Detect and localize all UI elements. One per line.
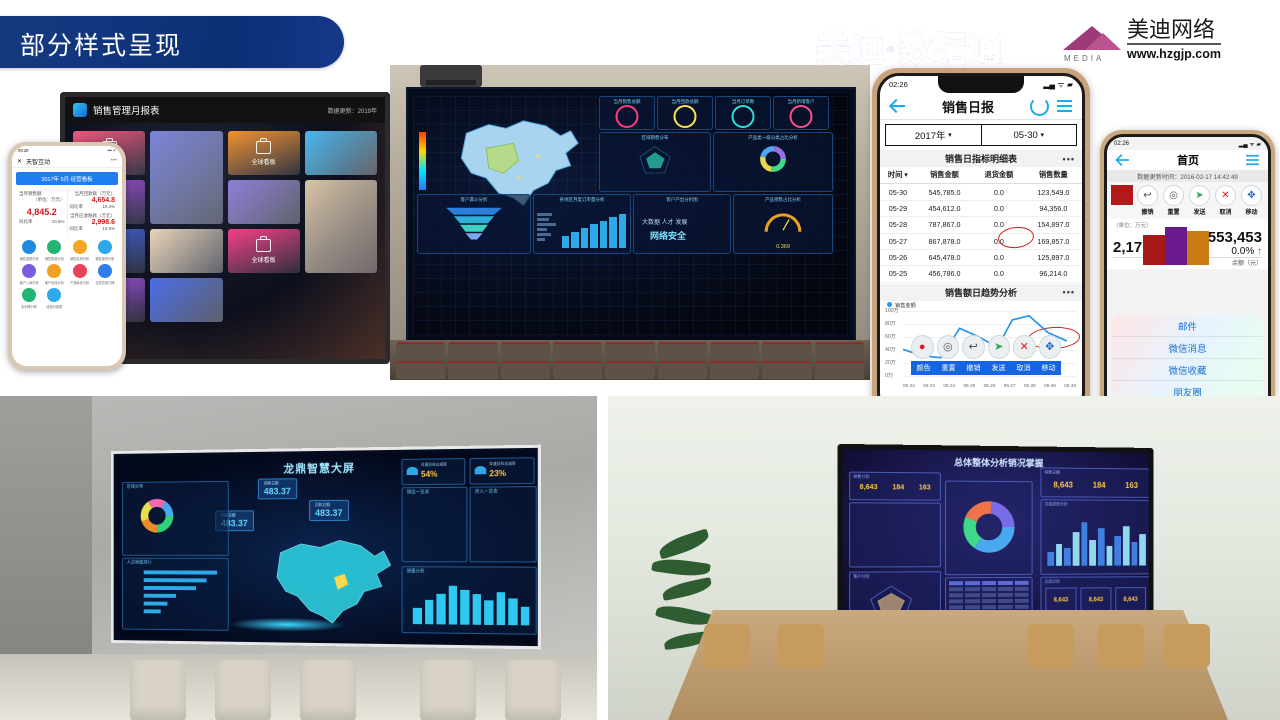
table-cell: 05-28 — [880, 217, 916, 233]
toolbar-label: 移动 — [1245, 207, 1257, 216]
toolbar-undo-icon[interactable]: ↩撤销 — [1135, 185, 1160, 216]
bar — [520, 607, 529, 626]
table-cell: 0.0 — [973, 200, 1025, 216]
share-option[interactable]: 微信收藏 — [1112, 359, 1263, 381]
toolbar-label[interactable]: 移动 — [1036, 361, 1061, 375]
y-tick: 60万 — [885, 333, 896, 340]
kpi-chip: 回款总额483.37 — [309, 500, 348, 521]
dashboard-tile[interactable] — [150, 278, 222, 322]
toolbar-move-icon[interactable]: ✥移动 — [1239, 185, 1264, 216]
toolbar-label[interactable]: 取消 — [1011, 361, 1036, 375]
seat — [501, 361, 550, 379]
reset-icon: ◎ — [1163, 185, 1184, 206]
table-cell: 05-30 — [880, 184, 916, 200]
table-row — [949, 599, 1029, 604]
feature-report-icon[interactable]: 经营月报表 — [43, 288, 65, 309]
list-card-1: 销出一览表 — [402, 487, 468, 563]
dash-card-text: 客户产出分析图大数据 人才 发展网络安全 — [633, 194, 731, 254]
kpi-main-compare-label: 同比率 — [19, 219, 33, 225]
x-tick: 05-25 — [963, 383, 975, 388]
seat — [553, 342, 602, 360]
back-arrow-icon[interactable] — [890, 98, 906, 114]
bar-card: 销量分析 — [402, 566, 537, 635]
card-title: 客户漏斗分析 — [418, 197, 530, 203]
back-arrow-icon[interactable] — [1116, 153, 1130, 167]
kpi-card-left: 销售分析 8,643184163 — [849, 472, 941, 501]
kpi-value: 8,643 — [1053, 480, 1073, 489]
sales-amount-icon — [22, 240, 36, 254]
map-color-legend — [419, 132, 426, 190]
feature-label: 销售毛利分析 — [70, 256, 89, 261]
tv-display: 总体整体分析销况掌握 销售分析 8,643184163 销售总额 8,64318… — [838, 444, 1154, 638]
cancel-icon: ✕ — [1215, 185, 1236, 206]
table-row: 05-25456,786.00.096,214.0 — [880, 266, 1082, 282]
seat — [396, 342, 445, 360]
dashboard-tile[interactable] — [305, 180, 377, 273]
phone-notch — [938, 76, 1024, 93]
toolbar-label: 重置 — [1167, 207, 1179, 216]
bar — [508, 598, 517, 625]
card-title: 区域销售分布 — [600, 135, 710, 141]
table-cell: 96,214.0 — [1025, 266, 1082, 282]
table-cell: 456,786.0 — [916, 266, 973, 282]
seat — [396, 361, 445, 379]
kpi-value: 163 — [1125, 481, 1138, 490]
table-cell — [982, 605, 996, 609]
table-cell — [998, 587, 1012, 591]
bar — [144, 578, 206, 582]
return-icon — [73, 240, 87, 254]
kpi-main-compare-value: 10.5% — [52, 219, 65, 225]
share-option[interactable]: 微信消息 — [1112, 337, 1263, 359]
column-header: 销售金额 — [916, 167, 973, 184]
dash-card-gauge: 产品销售占比分析0.369 — [733, 194, 833, 254]
kpi-row: 当月销售额 （单位：万元） 4,845.2 同比率 10.5% 当月回款额（万元… — [12, 189, 122, 234]
dashboard-tile[interactable] — [228, 180, 300, 224]
toolbar-label[interactable]: 颜色 — [911, 361, 936, 375]
donut-card: 区域分布 — [122, 481, 229, 556]
feature-sales-volume-icon[interactable]: 销售数量分析 — [43, 240, 65, 261]
menu-icon[interactable] — [1246, 155, 1259, 165]
send-icon[interactable]: ➤ — [988, 335, 1011, 359]
x-tick: 05-24 — [943, 383, 955, 388]
table-row — [949, 593, 1029, 598]
kpi-c-value: 2,998.6 — [70, 219, 116, 226]
table-cell — [966, 605, 980, 609]
feature-payment-icon[interactable]: 销售退货分析 — [94, 240, 116, 261]
table-row: 05-26645,478.00.0125,897.0 — [880, 249, 1082, 265]
kpi-secondary: 当月回款额（万元） 4,654.8 同比率 10.4% 当月应收账款（万元） 2… — [67, 189, 118, 234]
move-icon: ✥ — [1241, 185, 1262, 206]
auditorium-big-screen: 当月销售总额当月回款总额当月订单数当月新增客户区域销售分布产品类一级分类占比分析… — [406, 87, 856, 342]
feature-label: 毛利率分析 — [21, 304, 37, 309]
table-cell: 05-27 — [880, 233, 916, 249]
phone-nav-bar: 首页 — [1107, 150, 1268, 170]
company-logo: MEDIA 美迪网络 www.hzgjp.com — [1063, 18, 1221, 62]
seat — [658, 342, 707, 360]
phone-mockup-home: 02:26 ▂▄ ᯤ ▰ 首页 数据更新时间：2016-02-17 14:42:… — [1100, 130, 1275, 440]
bar — [144, 594, 176, 598]
table-cell: 154,897.0 — [1025, 217, 1082, 233]
table-cell: 0.0 — [973, 184, 1025, 200]
x-tick: 05-29 — [1044, 383, 1056, 388]
table-row — [949, 605, 1029, 610]
y-tick: 100万 — [885, 307, 899, 314]
move-icon[interactable]: ✥ — [1039, 335, 1062, 359]
feature-stock-icon[interactable]: 产品库存分析 — [69, 264, 91, 285]
table-more-icon[interactable]: ••• — [1063, 154, 1075, 164]
y-tick: 20万 — [885, 359, 896, 366]
cancel-icon[interactable]: ✕ — [1013, 335, 1036, 359]
phone-status-bar: 02:26 ▂▄ ᯤ ▰ — [1107, 137, 1268, 150]
status-time: 02:26 — [889, 80, 908, 89]
seat — [448, 361, 497, 379]
gauge-value: 8,643 — [1116, 597, 1145, 603]
gauge-value: 23% — [489, 469, 506, 478]
cloud-icon — [407, 467, 418, 475]
bar — [413, 608, 422, 624]
undo-icon: ↩ — [1137, 185, 1158, 206]
auditorium-photo: 当月销售总额当月回款总额当月订单数当月新增客户区域销售分布产品类一级分类占比分析… — [390, 65, 870, 380]
brand-title: 美迪·数据通 — [816, 22, 1003, 71]
bar — [1115, 536, 1121, 566]
kpi-c-compare-label: 同比率 — [70, 226, 84, 232]
cloud-icon — [475, 466, 486, 474]
table-cell: 123,549.0 — [1025, 184, 1082, 200]
table-cell — [982, 593, 996, 597]
annotation-toolbar: ↩撤销◎重置➤发送✕取消✥移动 — [1107, 182, 1268, 219]
kpi-block: （单位：万元） 2,553,453 0.0% ↑ 余额（元） 2,17 — [1107, 219, 1268, 269]
logo-url: www.hzgjp.com — [1127, 46, 1221, 62]
color-swatch-icon[interactable]: ● — [911, 335, 934, 359]
dash-card-ring: 当月订单数 — [715, 96, 771, 130]
dash-card-ring: 当月回款总额 — [657, 96, 713, 130]
table-row: 05-28787,867.00.0154,897.0 — [880, 217, 1082, 233]
status-icons: ••• ⚡ — [107, 148, 116, 153]
table-cell: 05-29 — [880, 200, 916, 216]
table-row — [949, 581, 1029, 585]
chart-section-title: 销售额日趋势分析 ••• — [880, 284, 1082, 301]
table-cell — [966, 581, 980, 585]
kpi-value: 184 — [1093, 481, 1106, 490]
toolbar-label[interactable]: 撤销 — [961, 361, 986, 375]
briefcase-icon — [256, 239, 271, 252]
data-update-time: 数据更新时间：2016-02-17 14:42:49 — [1107, 170, 1268, 182]
seat — [762, 361, 811, 379]
table-cell: 0.0 — [973, 249, 1025, 265]
refresh-icon[interactable] — [1030, 97, 1049, 116]
table-cell — [1014, 587, 1028, 591]
home-title: 首页 — [1177, 152, 1199, 168]
dashboard-tile[interactable] — [150, 229, 222, 273]
card-title: 产品销售占比分析 — [734, 197, 832, 203]
dashboard-tile[interactable] — [150, 131, 222, 224]
feature-return-icon[interactable]: 销售毛利分析 — [69, 240, 91, 261]
profit-icon — [22, 288, 36, 302]
mountain-logo-icon: MEDIA — [1063, 18, 1121, 60]
status-time: 09:28 — [18, 148, 28, 153]
status-icons: ▂▄ ᯤ ▰ — [1239, 140, 1261, 148]
seat — [658, 361, 707, 379]
table-row — [949, 587, 1029, 592]
customer-icon — [22, 264, 36, 278]
seat — [815, 342, 864, 360]
bar — [436, 594, 445, 625]
gauge-caption: 月度目标达成率 — [421, 462, 447, 467]
sales-volume-icon — [47, 240, 61, 254]
status-time: 02:26 — [1114, 141, 1129, 147]
dashboard-tile[interactable]: 全球看板 — [228, 131, 300, 175]
card-title: 各地区月度订单量分析 — [534, 197, 630, 203]
briefcase-icon — [256, 141, 271, 154]
seat — [605, 361, 654, 379]
feature-customer-icon[interactable]: 客户入库分析 — [18, 264, 40, 285]
seat — [605, 342, 654, 360]
phone-mockup-report: 02:26 ▂▄ ᯤ ▰ 销售日报 2017年 ▾ 05-30 ▾ 销售日指标明… — [872, 68, 1090, 420]
feature-label: 经营月报表 — [46, 304, 62, 309]
x-tick: 05-26 — [984, 383, 996, 388]
toolbar-label[interactable]: 发送 — [986, 361, 1011, 375]
feature-label: 客户入库分析 — [20, 280, 39, 285]
table-cell: 05-26 — [880, 249, 916, 265]
send-icon: ➤ — [1189, 185, 1210, 206]
kpi-value: 184 — [892, 484, 904, 491]
kpi-main-unit: （单位：万元） — [19, 197, 65, 203]
tablet-app-title: 销售管理月报表 — [93, 103, 160, 117]
bar — [1140, 534, 1146, 565]
up-arrow-icon: ↑ — [1257, 246, 1262, 257]
gauge-chip: 年度目标达成率23% — [470, 457, 535, 484]
reset-icon[interactable]: ◎ — [937, 335, 960, 359]
projector — [420, 65, 482, 87]
dash-card-bar: 各地区月度订单量分析 — [533, 194, 631, 254]
chart-app-icon — [73, 103, 87, 117]
gauge-value: 54% — [421, 470, 437, 479]
x-tick: 05-22 — [903, 383, 915, 388]
bar — [496, 592, 505, 625]
bar — [1056, 544, 1063, 566]
y-tick: 80万 — [885, 320, 896, 327]
donut-card — [945, 481, 1033, 576]
annotation-toolbar: ●◎↩➤✕✥ 颜色重置撤销发送取消移动 — [911, 335, 1061, 375]
table-cell — [982, 599, 996, 603]
dashboard-tile[interactable] — [305, 131, 377, 175]
table-cell — [1014, 605, 1028, 609]
report-title: 销售日报 — [942, 97, 994, 116]
bar — [1081, 522, 1087, 566]
order-icon — [47, 264, 61, 278]
date-selectors: 2017年 ▾ 05-30 ▾ — [885, 124, 1077, 146]
table-cell: 05-25 — [880, 266, 916, 282]
column-header: 销售数量 — [1025, 167, 1082, 184]
day-select[interactable]: 05-30 ▾ — [982, 125, 1077, 145]
kpi-caption: 销售总额 — [264, 481, 291, 486]
table-cell — [949, 605, 963, 609]
toolbar-label: 取消 — [1219, 207, 1231, 216]
bar — [425, 600, 434, 624]
feature-label: 销售退货分析 — [95, 256, 114, 261]
table-cell: 545,785.0 — [916, 184, 973, 200]
gauge-caption: 年度目标达成率 — [489, 462, 515, 467]
logo-media-label: MEDIA — [1064, 54, 1104, 63]
projector-room-photo: 龙鼎智慧大屏 销售总额483.37回款总额483.37利润总额483.37 月度… — [0, 396, 597, 720]
table-row: 05-29454,612.00.094,356.0 — [880, 200, 1082, 216]
tile-label: 全球看板 — [252, 157, 276, 166]
x-tick: 05-27 — [1004, 383, 1016, 388]
close-icon[interactable]: ✕ — [17, 158, 22, 165]
gauge-value: 8,643 — [1081, 597, 1110, 603]
feature-label: 客户出库分析 — [45, 280, 64, 285]
conference-table — [668, 610, 1228, 720]
dash-card-funnel: 客户漏斗分析 — [417, 194, 531, 254]
kpi-c-compare-value: 13.6% — [102, 226, 115, 232]
gauge-value: 0.369 — [734, 244, 832, 250]
tablet-meta: 数据更新：2019年 — [328, 106, 377, 115]
phone-nav-bar: 销售日报 — [880, 93, 1082, 120]
column-header: 退货金额 — [973, 167, 1025, 184]
color-swatch-icon[interactable] — [1111, 185, 1133, 205]
conference-room-photo: 总体整体分析销况掌握 销售分析 8,643184163 销售总额 8,64318… — [608, 396, 1280, 720]
table-cell — [998, 605, 1012, 609]
kpi-card-right: 销售总额 8,643184163 — [1040, 467, 1148, 497]
bar — [472, 594, 481, 625]
staff-icon — [98, 264, 112, 278]
seat — [710, 342, 759, 360]
table-cell: 94,356.0 — [1025, 200, 1082, 216]
kpi-b-value: 4,654.8 — [70, 197, 116, 204]
x-tick: 05-23 — [923, 383, 935, 388]
feature-label: 销售数量分析 — [45, 256, 64, 261]
table-cell — [949, 593, 963, 597]
dash-card-donut: 产品类一级分类占比分析 — [713, 132, 833, 192]
payment-icon — [98, 240, 112, 254]
table-cell — [998, 581, 1012, 585]
phone-nav-bar: ✕ 天智互动 ••• — [12, 155, 122, 168]
chart-more-icon[interactable]: ••• — [1063, 287, 1075, 297]
dashboard-tile[interactable]: 全球看板 — [228, 229, 300, 273]
more-icon[interactable]: ••• — [111, 158, 117, 164]
feature-staff-icon[interactable]: 业务员排行榜 — [94, 264, 116, 285]
logo-company-name: 美迪网络 — [1127, 18, 1221, 45]
bar — [460, 590, 469, 625]
status-icons: ▂▄ ᯤ ▰ — [1043, 79, 1073, 90]
kpi-caption: 回款总额 — [315, 503, 342, 508]
bar — [1047, 552, 1054, 566]
kpi-bars — [1143, 227, 1209, 265]
bar — [1064, 548, 1070, 566]
report-icon — [47, 288, 61, 302]
table-cell — [982, 587, 996, 591]
seat — [815, 361, 864, 379]
toolbar-reset-icon[interactable]: ◎重置 — [1161, 185, 1186, 216]
list-card-2: 进入一览表 — [470, 486, 537, 562]
kpi-value: 8,643 — [860, 484, 878, 491]
card-title: 产品类一级分类占比分析 — [714, 135, 832, 141]
bar — [144, 570, 218, 574]
feature-order-icon[interactable]: 客户出库分析 — [43, 264, 65, 285]
kpi-pct: 0.0% — [1231, 246, 1254, 257]
table-cell — [982, 581, 996, 585]
bar — [1090, 540, 1096, 566]
phone-notch — [47, 146, 87, 153]
auditorium-seats — [390, 340, 870, 380]
table-cell — [949, 599, 963, 603]
table-cell — [966, 587, 980, 591]
chart-x-axis: 05-2205-2305-2405-2505-2605-2705-2805-29… — [903, 383, 1076, 388]
toolbar-label: 撤销 — [1141, 207, 1153, 216]
table-cell: 867,878.0 — [916, 233, 973, 249]
barh-card: 人员销量排行 — [122, 558, 229, 631]
undo-icon[interactable]: ↩ — [962, 335, 985, 359]
feature-icon-grid: 销售金额分析销售数量分析销售毛利分析销售退货分析客户入库分析客户出库分析产品库存… — [12, 234, 122, 315]
bar — [144, 586, 197, 590]
kpi-value: 163 — [919, 484, 931, 491]
dash-card-ring: 当月新增客户 — [773, 96, 829, 130]
kpi-chip: 销售总额483.37 — [258, 478, 297, 499]
seat — [501, 342, 550, 360]
feature-label: 业务员排行榜 — [95, 280, 114, 285]
kpi-main: 当月销售额 （单位：万元） 4,845.2 同比率 10.5% — [17, 189, 67, 234]
toolbar-send-icon[interactable]: ➤发送 — [1187, 185, 1212, 216]
banner-text-1: 大数据 人才 发展 — [642, 217, 687, 226]
table-cell — [966, 593, 980, 597]
table-row: 05-30545,785.00.0123,549.0 — [880, 184, 1082, 200]
table-row: 05-27867,878.00.0169,857.0 — [880, 233, 1082, 249]
kpi-main-value: 4,845.2 — [19, 207, 65, 217]
projection-screen: 龙鼎智慧大屏 销售总额483.37回款总额483.37利润总额483.37 月度… — [111, 445, 541, 650]
y-tick: 0万 — [885, 372, 893, 379]
table-section-title: 销售日指标明细表 ••• — [880, 150, 1082, 167]
table-cell — [998, 593, 1012, 597]
slide-title-banner: 部分样式呈现 — [0, 16, 344, 68]
table-cell — [966, 599, 980, 603]
trend-chart: 销售金额 100万80万60万40万20万0万 05-2205-2305-240… — [883, 301, 1079, 396]
seat — [710, 361, 759, 379]
table-cell — [1014, 599, 1028, 603]
year-select[interactable]: 2017年 ▾ — [886, 125, 982, 145]
feature-profit-icon[interactable]: 毛利率分析 — [18, 288, 40, 309]
toolbar-label: 发送 — [1193, 207, 1205, 216]
x-tick: 05-28 — [1024, 383, 1036, 388]
bar — [1123, 526, 1129, 565]
y-tick: 40万 — [885, 346, 896, 353]
toolbar-cancel-icon[interactable]: ✕取消 — [1213, 185, 1238, 216]
period-banner[interactable]: 2017年 5月 经营看板 — [16, 172, 118, 185]
menu-icon[interactable] — [1057, 100, 1072, 112]
table-cell — [1014, 593, 1028, 597]
bar — [144, 609, 161, 613]
table-cell: 125,897.0 — [1025, 249, 1082, 265]
bar-card: 月度趋势分析 — [1040, 499, 1148, 575]
share-option[interactable]: 邮件 — [1112, 315, 1263, 337]
tile-label: 全球看板 — [252, 255, 276, 264]
bar — [448, 586, 457, 625]
phone-nav-title: 天智互动 — [26, 157, 50, 166]
bar — [1073, 532, 1079, 566]
seat — [448, 342, 497, 360]
table-cell — [998, 599, 1012, 603]
toolbar-label[interactable]: 重置 — [936, 361, 961, 375]
kpi-b-compare-value: 10.4% — [102, 204, 115, 210]
bar — [1131, 542, 1137, 566]
x-tick: 05-30 — [1064, 383, 1076, 388]
feature-label: 销售金额分析 — [20, 256, 39, 261]
feature-sales-amount-icon[interactable]: 销售金额分析 — [18, 240, 40, 261]
kpi-left-value: 2,17 — [1113, 239, 1142, 256]
slide-title-text: 部分样式呈现 — [20, 26, 182, 62]
stock-icon — [73, 264, 87, 278]
table-cell: 0.0 — [973, 266, 1025, 282]
